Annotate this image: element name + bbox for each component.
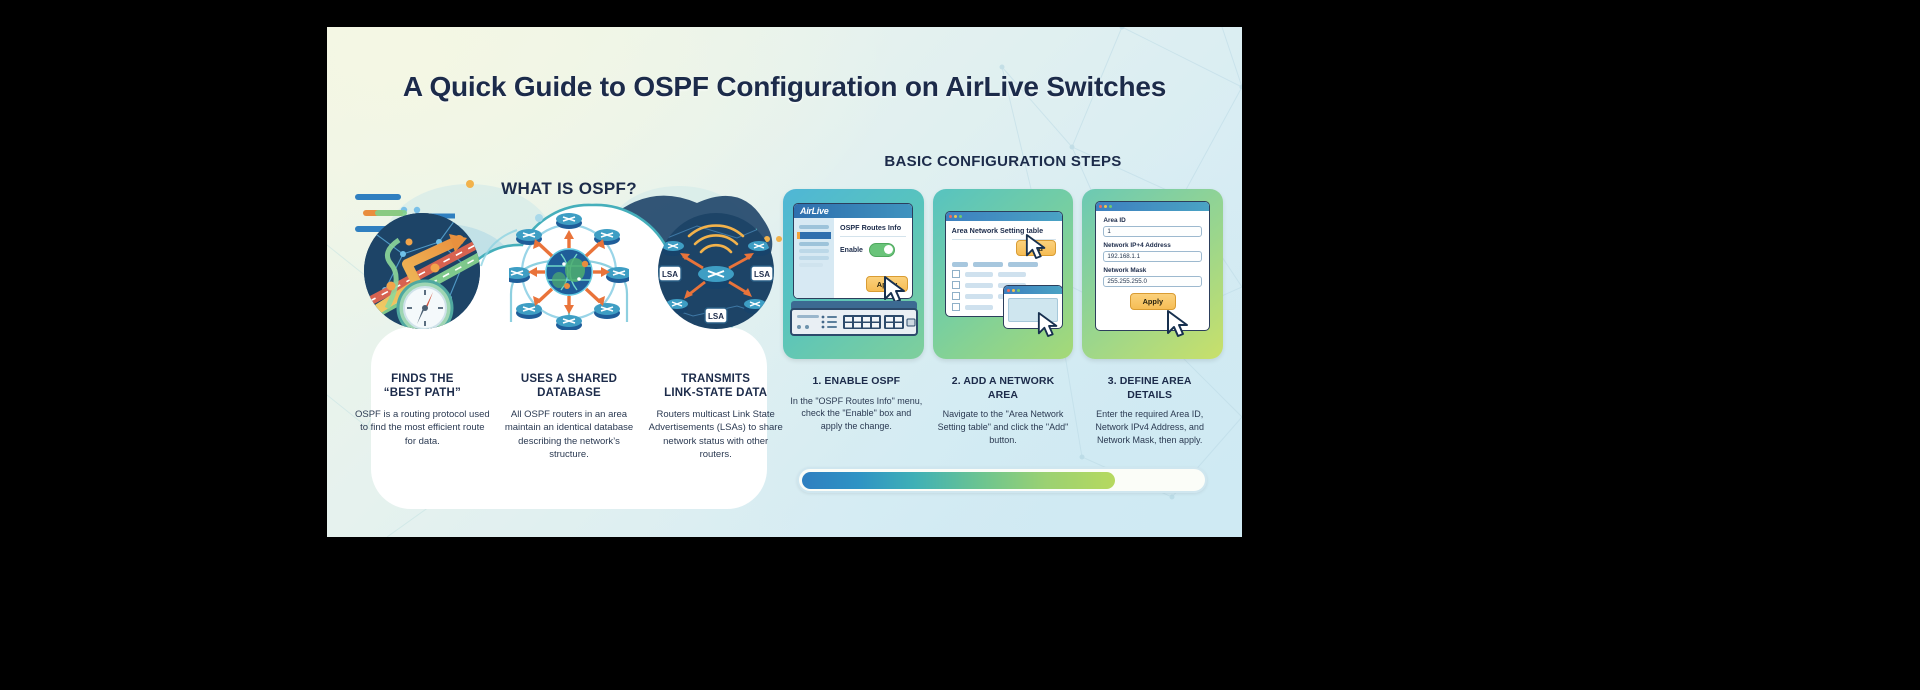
step-heading: 2. ADD A NETWORK AREA [937,375,1070,402]
feature-shared-database: USES A SHARED DATABASE All OSPF routers … [496,372,643,462]
feature-heading-line1: USES A SHARED [521,373,617,385]
cursor-icon [1025,233,1049,261]
step-body: Navigate to the "Area Network Setting ta… [937,408,1070,446]
progress-bar-fill [802,472,1115,489]
feature-icon-best-path [349,212,496,330]
cursor-icon [1037,311,1061,339]
infographic-poster: A Quick Guide to OSPF Configuration on A… [327,27,1242,537]
row-checkbox[interactable] [952,303,960,311]
minimize-dot-icon[interactable] [954,215,957,218]
feature-body: OSPF is a routing protocol used to find … [354,408,491,448]
feature-heading-line1: TRANSMITS [681,373,750,385]
network-ipv4-label: Network IP+4 Address [1103,242,1202,249]
feature-text-row: FINDS THE “BEST PATH” OSPF is a routing … [349,372,789,462]
enable-toggle[interactable] [869,243,895,257]
maximize-dot-icon[interactable] [1017,289,1020,292]
popup-titlebar [1004,286,1062,294]
close-dot-icon[interactable] [949,215,952,218]
basic-configuration-steps-heading: BASIC CONFIGURATION STEPS [783,153,1223,170]
minimize-dot-icon[interactable] [1104,205,1107,208]
feature-heading-line1: FINDS THE [391,373,454,385]
lsa-badge-label-2: LSA [754,270,770,279]
feature-icon-shared-database [496,212,643,330]
step-caption-2: 2. ADD A NETWORK AREA Navigate to the "A… [930,375,1077,447]
step-card-add-network-area[interactable]: Area Network Setting table Add [933,189,1074,359]
step-caption-3: 3. DEFINE AREA DETAILS Enter the require… [1076,375,1223,447]
step-heading: 3. DEFINE AREA DETAILS [1083,375,1216,402]
feature-icons-row: LSA LSA LSA [349,212,789,330]
feature-best-path: FINDS THE “BEST PATH” OSPF is a routing … [349,372,496,462]
step-heading-line1: 3. DEFINE AREA [1108,375,1192,387]
progress-bar [797,467,1207,493]
step-caption-1: 1. ENABLE OSPF In the "OSPF Routes Info"… [783,375,930,447]
airlive-logo: AirLive [800,206,828,216]
step-heading-line1: 1. ENABLE OSPF [812,375,900,387]
step-captions-row: 1. ENABLE OSPF In the "OSPF Routes Info"… [783,375,1223,447]
window-titlebar: AirLive [794,204,912,218]
maximize-dot-icon[interactable] [959,215,962,218]
row-checkbox[interactable] [952,270,960,278]
step-heading-line1: 2. ADD A NETWORK [952,375,1055,387]
feature-heading-line2: LINK-STATE DATA [664,387,767,399]
network-ipv4-input[interactable]: 192.168.1.1 [1103,251,1202,262]
feature-heading: TRANSMITS LINK-STATE DATA [647,372,784,401]
close-dot-icon[interactable] [1007,289,1010,292]
feature-heading: FINDS THE “BEST PATH” [354,372,491,401]
row-checkbox[interactable] [952,292,960,300]
close-dot-icon[interactable] [1099,205,1102,208]
feature-heading-line2: “BEST PATH” [384,387,461,399]
sidebar-menu[interactable] [794,218,834,298]
maximize-dot-icon[interactable] [1109,205,1112,208]
enable-label: Enable [840,247,863,254]
area-id-input[interactable]: 1 [1103,226,1202,237]
network-mask-label: Network Mask [1103,267,1202,274]
step-card-enable-ospf[interactable]: AirLive OSPF Routes Info [783,189,924,359]
minimize-dot-icon[interactable] [1012,289,1015,292]
area-id-label: Area ID [1103,217,1202,224]
window-titlebar [946,212,1062,221]
feature-heading: USES A SHARED DATABASE [501,372,638,401]
what-is-ospf-heading: WHAT IS OSPF? [349,179,789,199]
page-title: A Quick Guide to OSPF Configuration on A… [327,71,1242,103]
lsa-badge-label-3: LSA [708,312,724,321]
cursor-icon [1166,309,1192,339]
feature-body: Routers multicast Link State Advertiseme… [647,408,784,462]
step-card-define-area-details[interactable]: Area ID 1 Network IP+4 Address 192.168.1… [1082,189,1223,359]
row-checkbox[interactable] [952,281,960,289]
step-cards-row: AirLive OSPF Routes Info [783,189,1223,359]
step-heading: 1. ENABLE OSPF [790,375,923,389]
window-titlebar [1096,202,1209,211]
step-heading-line2: AREA [988,389,1018,401]
step-body: In the "OSPF Routes Info" menu, check th… [790,395,923,433]
rack-switch-illustration [789,297,919,343]
feature-heading-line2: DATABASE [537,387,601,399]
feature-link-state-data: TRANSMITS LINK-STATE DATA Routers multic… [642,372,789,462]
feature-icon-link-state-data: LSA LSA LSA [642,212,789,330]
feature-body: All OSPF routers in an area maintain an … [501,408,638,462]
screenshot-root: A Quick Guide to OSPF Configuration on A… [0,0,1920,690]
lsa-badge-label-1: LSA [662,270,678,279]
network-mask-input[interactable]: 255.255.255.0 [1103,276,1202,287]
window-title: OSPF Routes Info [840,223,906,232]
area-details-window: Area ID 1 Network IP+4 Address 192.168.1… [1095,201,1210,331]
step-body: Enter the required Area ID, Network IPv4… [1083,408,1216,446]
apply-button[interactable]: Apply [1130,293,1176,310]
step-heading-line2: DETAILS [1127,389,1172,401]
